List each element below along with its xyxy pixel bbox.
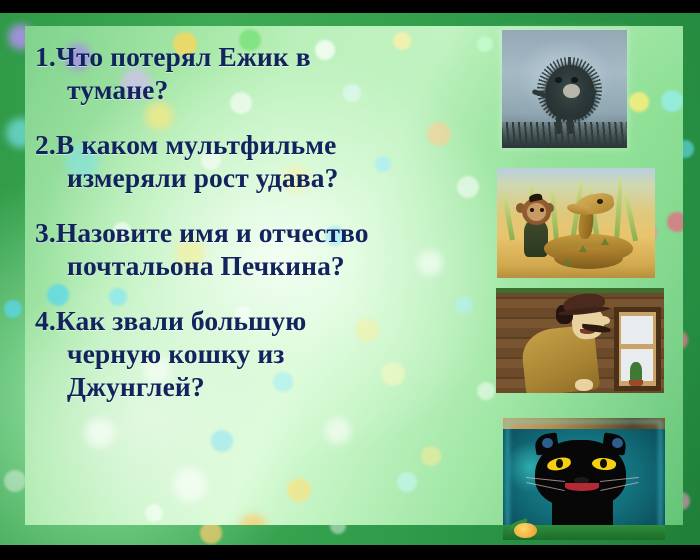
boa-snout — [566, 202, 589, 216]
fog-grass — [502, 122, 627, 148]
panther-head — [535, 440, 626, 508]
bokeh-dot — [661, 90, 683, 112]
bokeh-dot — [397, 472, 417, 492]
window-pane-upper — [621, 316, 654, 344]
panther-ear-inner-right — [612, 438, 623, 449]
slide-canvas: 1.Что потерял Ежик в тумане? 2.В каком м… — [0, 0, 700, 560]
reed-7 — [622, 191, 637, 242]
reed-1 — [501, 193, 514, 242]
question-list: 1.Что потерял Ежик в тумане? 2.В каком м… — [35, 40, 505, 425]
pechkin-scene — [496, 288, 664, 393]
hedgehog-eye-left — [555, 77, 563, 83]
roof-edge — [496, 288, 664, 293]
boa-eye — [597, 199, 603, 205]
black-panther-bagheera-photo — [503, 418, 665, 540]
boa-and-monkey-photo — [497, 168, 655, 278]
boa-spot-1 — [579, 245, 587, 252]
bokeh-dot — [667, 212, 683, 232]
question-item-3: 3.Назовите имя и отчество почтальона Печ… — [35, 216, 505, 282]
hedgehog-snout — [563, 84, 579, 98]
panther-scene — [503, 418, 665, 540]
boa-spot-3 — [563, 258, 571, 265]
hedgehog-scene — [502, 30, 627, 148]
house-window — [614, 307, 661, 391]
pechkin-hand — [575, 379, 593, 391]
panther-pupil-left — [556, 459, 562, 468]
monkey-eye-right — [540, 208, 544, 212]
panther-pupil-right — [600, 459, 606, 468]
letterbox-bottom — [0, 545, 700, 560]
postman-pechkin-photo — [496, 288, 664, 393]
bokeh-dot — [145, 504, 163, 522]
bokeh-dot — [421, 446, 441, 466]
question-item-2: 2.В каком мультфильме измеряли рост удав… — [35, 128, 505, 194]
fruit-icon — [514, 523, 537, 538]
bokeh-dot — [211, 430, 233, 452]
flower-pot — [629, 380, 643, 386]
reed-3 — [549, 188, 559, 241]
boa-scene — [497, 168, 655, 278]
monkey-face — [527, 203, 546, 221]
question-item-1: 1.Что потерял Ежик в тумане? — [35, 40, 505, 106]
bokeh-dot — [239, 514, 267, 525]
pechkin-nose — [595, 316, 610, 324]
question-item-4: 4.Как звали большую черную кошку из Джун… — [35, 304, 505, 403]
hedgehog-in-the-fog-photo — [502, 30, 627, 148]
boa-spot-2 — [601, 238, 609, 245]
letterbox-top — [0, 0, 700, 13]
bokeh-dot — [287, 478, 311, 502]
bokeh-dot — [629, 92, 649, 112]
bokeh-dot — [173, 468, 207, 502]
reed-6 — [614, 177, 623, 241]
